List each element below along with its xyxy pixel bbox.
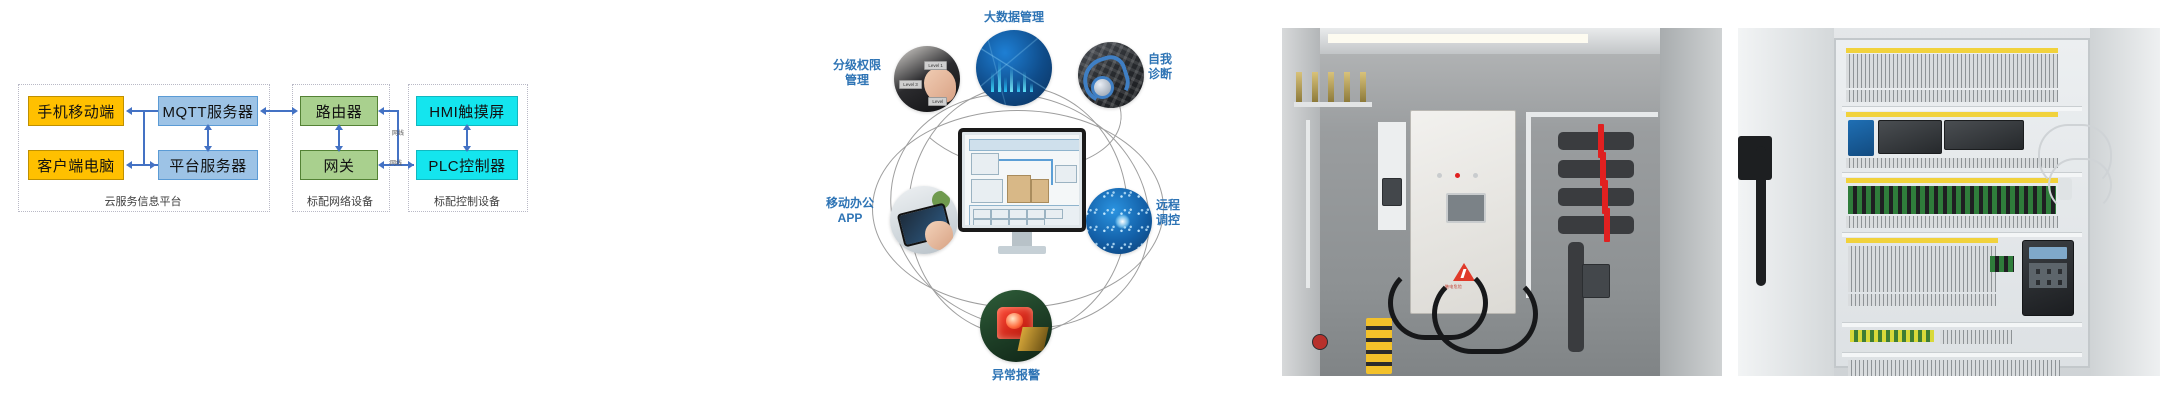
hmi-widget — [971, 153, 999, 175]
hmi-pipe — [1051, 159, 1053, 185]
hmi-pipe — [999, 159, 1053, 161]
node-client-pc[interactable]: 客户端电脑 — [28, 150, 124, 180]
hmi-button — [1027, 209, 1045, 219]
arrowhead-mqtt-mobile — [126, 107, 132, 115]
pressure-gauge — [1312, 334, 1328, 350]
valve-handle-red — [1604, 208, 1610, 242]
wire-label-1: 网线 — [392, 128, 404, 137]
bubble-remote-control[interactable] — [1086, 188, 1152, 254]
connector-riser-network — [397, 110, 399, 165]
hmi-button — [973, 219, 991, 225]
hmi-button — [1045, 209, 1063, 219]
manifold-rail — [1294, 102, 1372, 107]
power-supply-module — [1848, 120, 1874, 156]
manifold-valve — [1344, 72, 1350, 102]
connector-router-gateway — [338, 128, 340, 148]
indicator-lamp — [1437, 173, 1442, 178]
node-router[interactable]: 路由器 — [300, 96, 378, 126]
hub-label-remote-line1: 远程 — [1156, 198, 1208, 213]
connector-riser-to-router — [382, 110, 398, 112]
monitor-screen — [965, 135, 1079, 225]
arrowhead-gateway-left — [378, 161, 384, 169]
vfd-inverter[interactable] — [2022, 240, 2074, 316]
din-rail-yellow — [1846, 178, 2058, 183]
arrowhead-mqtt-up — [204, 124, 212, 130]
hmi-widget — [971, 179, 1003, 203]
manifold-valve — [1360, 72, 1366, 102]
pipe-run — [1558, 216, 1634, 234]
arrowhead-pc-platform — [150, 161, 156, 169]
frame-rail-v — [1526, 112, 1531, 298]
hub-label-mobile-app: 移动办公 APP — [814, 196, 886, 226]
wire-duct — [1846, 90, 2058, 102]
bottom-terminal-row — [1848, 360, 2060, 376]
pipe-run — [1558, 132, 1634, 150]
alarm-lens-icon — [1006, 313, 1023, 329]
hmi-button — [1027, 219, 1045, 225]
wire-duct — [1846, 216, 2058, 228]
din-rail-yellow — [1846, 48, 2058, 53]
permission-tag-level3: Level 3 — [899, 80, 922, 89]
arrowhead-gateway-down — [335, 146, 343, 152]
panel-body — [1834, 38, 2090, 368]
node-plc[interactable]: PLC控制器 — [416, 150, 518, 180]
capability-hub-panel: 大数据管理 自我 诊断 Level 1 Level 3 Level 分级权限 管… — [760, 0, 1280, 400]
finger-icon — [925, 221, 952, 250]
hub-label-remote-line2: 调控 — [1156, 213, 1208, 228]
arrowhead-platform-down — [204, 146, 212, 152]
hub-label-alarm: 异常报警 — [960, 368, 1072, 383]
hub-label-app-line1: 移动办公 — [814, 196, 886, 211]
hub-label-remote-control: 远程 调控 — [1156, 198, 1208, 228]
terminal-block-row — [1940, 330, 2012, 344]
hub-label-permission-line2: 管理 — [824, 73, 890, 88]
bollard-post — [1366, 318, 1392, 374]
hub-label-app-line2: APP — [814, 211, 886, 226]
connector-mqtt-platform — [207, 128, 209, 148]
mounting-rail — [1306, 120, 1310, 288]
touch-glow-icon — [1115, 214, 1130, 229]
flow-meter-device — [1582, 264, 1610, 298]
hub-label-bigdata: 大数据管理 — [958, 10, 1070, 25]
relay-row — [1848, 186, 2056, 214]
monitor-base — [998, 246, 1046, 254]
cabinet-light-strip — [1328, 34, 1588, 43]
hub-label-permission: 分级权限 管理 — [824, 58, 890, 88]
pipe-run — [1558, 188, 1634, 206]
photo-plc-panel — [1738, 28, 2160, 376]
group-network-caption: 标配网络设备 — [292, 193, 388, 209]
power-cable — [1432, 274, 1538, 354]
vfd-display — [2029, 247, 2067, 259]
valve-manifold — [1294, 72, 1372, 118]
vfd-keypad[interactable] — [2029, 263, 2067, 288]
hmi-titlebar — [969, 139, 1079, 151]
plc-io-module — [1944, 120, 2024, 150]
hmi-tank — [1007, 175, 1031, 203]
permission-tag-level: Level — [928, 97, 947, 106]
bigdata-bars-icon — [990, 58, 1039, 92]
indicator-lamp — [1473, 173, 1478, 178]
bubble-permission[interactable]: Level 1 Level 3 Level — [894, 46, 960, 112]
bubble-alarm[interactable] — [980, 290, 1052, 362]
hmi-button — [1009, 219, 1027, 225]
plc-cpu-module — [1878, 120, 1942, 154]
panel-door-left — [1738, 28, 1834, 376]
arrowhead-plc-down — [463, 146, 471, 152]
din-rail-yellow — [1846, 112, 2058, 117]
bubble-self-diagnosis[interactable] — [1078, 42, 1144, 108]
shelf-divider — [1842, 106, 2082, 111]
breaker-row — [1846, 54, 2058, 88]
door-latch — [2058, 178, 2072, 200]
manifold-valve — [1328, 72, 1334, 102]
connector-riser-cloud — [143, 110, 145, 165]
node-mobile[interactable]: 手机移动端 — [28, 96, 124, 126]
control-box-display — [1446, 193, 1486, 223]
mounting-bracket — [1378, 122, 1406, 230]
arrowhead-plc-right — [408, 161, 414, 169]
arrowhead-router-mqtt — [260, 107, 266, 115]
group-cloud-caption: 云服务信息平台 — [18, 193, 268, 209]
hmi-tank — [1031, 179, 1049, 203]
manifold-valve — [1296, 72, 1302, 102]
din-rail-yellow — [1846, 238, 1998, 243]
group-control-caption: 标配控制设备 — [408, 193, 526, 209]
hub-label-self-diagnosis-line2: 诊断 — [1148, 67, 1200, 82]
door-cable — [1756, 146, 1766, 286]
hub-label-self-diagnosis: 自我 诊断 — [1148, 52, 1200, 82]
hmi-button — [973, 209, 991, 219]
bubble-bigdata[interactable] — [976, 30, 1052, 106]
door-mounted-device — [1738, 136, 1772, 180]
wire-label-2: 网线 — [390, 158, 402, 167]
shelf-divider — [1842, 322, 2082, 327]
sensor-device — [1382, 178, 1402, 206]
shelf-divider — [1842, 352, 2082, 357]
node-hmi[interactable]: HMI触摸屏 — [416, 96, 518, 126]
hub-label-self-diagnosis-line1: 自我 — [1148, 52, 1200, 67]
wire-duct — [1846, 158, 2058, 168]
hmi-button — [991, 219, 1009, 225]
frame-rail-h — [1526, 112, 1658, 117]
architecture-diagram-panel: 云服务信息平台 手机移动端 客户端电脑 MQTT服务器 平台服务器 标配网络设备… — [0, 0, 760, 400]
screenshot-canvas: 云服务信息平台 手机移动端 客户端电脑 MQTT服务器 平台服务器 标配网络设备… — [0, 0, 2160, 400]
contactor-row — [1848, 246, 1996, 292]
relay-pair — [1990, 256, 2014, 272]
hub-label-permission-line1: 分级权限 — [824, 58, 890, 73]
node-mqtt-server[interactable]: MQTT服务器 — [158, 96, 258, 126]
arrowhead-riser-router — [378, 107, 384, 115]
alarm-horn-icon — [1018, 327, 1049, 351]
connector-hmi-plc — [466, 128, 468, 148]
ground-terminal-row — [1850, 330, 1934, 342]
hmi-widget — [1055, 165, 1077, 183]
node-gateway[interactable]: 网关 — [300, 150, 378, 180]
photo-outdoor-cabinet: 触电危险 — [1282, 28, 1722, 376]
arrowhead-router-up — [335, 124, 343, 130]
manifold-valve — [1312, 72, 1318, 102]
arrowhead-hmi-up — [463, 124, 471, 130]
arrowhead-platform-pc — [126, 161, 132, 169]
arrowhead-mqtt-router — [292, 107, 298, 115]
cabinet-door-right — [1660, 28, 1722, 376]
hmi-button — [991, 209, 1009, 219]
center-monitor — [958, 128, 1086, 232]
indicator-lamp-red — [1455, 173, 1460, 178]
node-platform-server[interactable]: 平台服务器 — [158, 150, 258, 180]
shelf-divider — [1842, 232, 2082, 237]
connector-mqtt-mobile — [132, 110, 158, 112]
wire-duct — [1848, 294, 1996, 306]
hmi-button — [1009, 209, 1027, 219]
pipe-run — [1558, 160, 1634, 178]
permission-tag-level1: Level 1 — [924, 61, 947, 70]
bubble-mobile-app[interactable] — [890, 186, 958, 254]
